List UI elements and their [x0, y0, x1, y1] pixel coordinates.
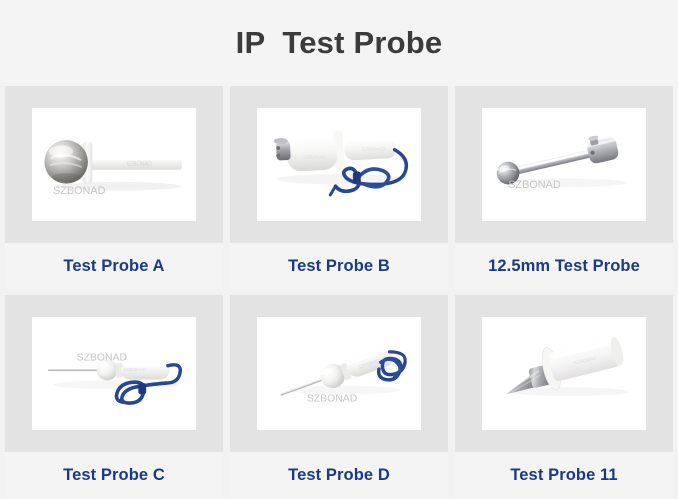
product-gallery-page: IP Test Probe: [0, 0, 678, 499]
product-label[interactable]: Test Probe A: [63, 257, 164, 276]
product-label[interactable]: Test Probe B: [288, 257, 390, 276]
svg-text:SZBONAD: SZBONAD: [123, 367, 147, 373]
page-title: IP Test Probe: [236, 25, 443, 61]
card-media: SZBONAD SZBONAD: [230, 295, 448, 452]
card-caption: Test Probe B: [230, 243, 448, 289]
product-label[interactable]: Test Probe C: [63, 466, 165, 485]
card-caption: Test Probe C: [5, 452, 223, 498]
product-card-12-5mm-test-probe[interactable]: SZBONAD 12.5mm Test Probe: [455, 86, 673, 289]
product-label[interactable]: 12.5mm Test Probe: [488, 257, 640, 276]
card-media: SZBONAD SZBONAD: [5, 295, 223, 452]
page-header: IP Test Probe: [0, 0, 678, 86]
test-probe-d-photo[interactable]: SZBONAD SZBONAD: [257, 317, 421, 430]
svg-text:SZBONAD: SZBONAD: [303, 154, 327, 160]
card-media: SZBONAD: [455, 295, 673, 452]
12-5mm-test-probe-photo[interactable]: SZBONAD: [482, 108, 646, 221]
card-media: SZBONAD SZBONAD: [5, 86, 223, 243]
svg-text:SZBONAD: SZBONAD: [307, 393, 358, 404]
product-label[interactable]: Test Probe 11: [510, 466, 617, 485]
product-card-test-probe-a[interactable]: SZBONAD SZBONAD Test Probe A: [5, 86, 223, 289]
card-caption: Test Probe 11: [455, 452, 673, 498]
card-media: SZBONAD SZBONAD: [230, 86, 448, 243]
product-card-test-probe-d[interactable]: SZBONAD SZBONAD Test Probe D: [230, 295, 448, 498]
test-probe-b-photo[interactable]: SZBONAD SZBONAD: [257, 108, 421, 221]
product-card-test-probe-b[interactable]: SZBONAD SZBONAD Test Probe B: [230, 86, 448, 289]
svg-text:SZBONAD: SZBONAD: [362, 147, 386, 153]
product-label[interactable]: Test Probe D: [288, 466, 390, 485]
test-probe-a-photo[interactable]: SZBONAD SZBONAD: [32, 108, 196, 221]
svg-text:SZBONAD: SZBONAD: [53, 185, 106, 197]
card-caption: 12.5mm Test Probe: [455, 243, 673, 289]
card-media: SZBONAD: [455, 86, 673, 243]
svg-text:SZBONAD: SZBONAD: [127, 161, 152, 167]
svg-text:SZBONAD: SZBONAD: [508, 179, 561, 191]
svg-text:SZBONAD: SZBONAD: [77, 352, 128, 363]
product-grid: SZBONAD SZBONAD Test Probe A: [0, 86, 678, 498]
product-card-test-probe-11[interactable]: SZBONAD Test Probe 11: [455, 295, 673, 498]
test-probe-c-photo[interactable]: SZBONAD SZBONAD: [32, 317, 196, 430]
card-caption: Test Probe A: [5, 243, 223, 289]
product-card-test-probe-c[interactable]: SZBONAD SZBONAD Test Probe C: [5, 295, 223, 498]
card-caption: Test Probe D: [230, 452, 448, 498]
test-probe-11-photo[interactable]: SZBONAD: [482, 317, 646, 430]
